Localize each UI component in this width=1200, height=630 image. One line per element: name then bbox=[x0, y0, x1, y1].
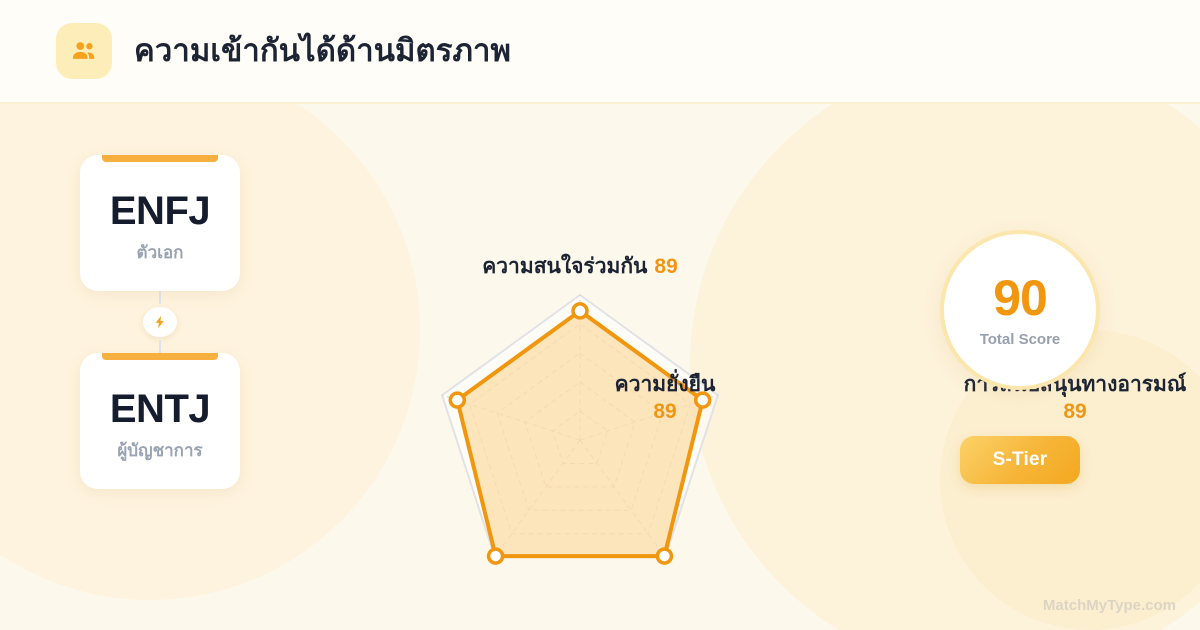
mbti-card-second[interactable]: ENTJ ผู้บัญชาการ bbox=[80, 353, 240, 489]
tier-badge: S-Tier bbox=[960, 436, 1080, 484]
radar-axis-value-0: 89 bbox=[654, 255, 677, 278]
page-header: ความเข้ากันได้ด้านมิตรภาพ bbox=[0, 0, 1200, 104]
connector-line-top bbox=[159, 291, 161, 304]
score-panel: 90 Total Score S-Tier bbox=[940, 230, 1100, 484]
mbti-type-first: ENFJ bbox=[110, 191, 210, 231]
infographic-root: ความเข้ากันได้ด้านมิตรภาพ ENFJ ตัวเอก EN… bbox=[0, 0, 1200, 630]
mbti-role-second: ผู้บัญชาการ bbox=[117, 442, 202, 459]
page-title: ความเข้ากันได้ด้านมิตรภาพ bbox=[134, 34, 511, 68]
radar-axis-name-4: ความยั่งยืน bbox=[615, 373, 716, 396]
radar-chart: ความสนใจร่วมกัน89 การสนับสนุนทางอารมณ์ 8… bbox=[290, 120, 950, 600]
total-score-label: Total Score bbox=[980, 332, 1061, 347]
mbti-role-first: ตัวเอก bbox=[137, 244, 184, 261]
mbti-type-second: ENTJ bbox=[110, 389, 210, 429]
radar-axis-name-0: ความสนใจร่วมกัน bbox=[482, 255, 647, 278]
mbti-card-first[interactable]: ENFJ ตัวเอก bbox=[80, 155, 240, 291]
lightning-bolt-icon bbox=[143, 307, 177, 338]
total-score-value: 90 bbox=[993, 273, 1047, 323]
total-score-circle: 90 Total Score bbox=[940, 230, 1100, 390]
mbti-pair: ENFJ ตัวเอก ENTJ ผู้บัญชาการ bbox=[80, 155, 240, 489]
radar-axis-value-4: 89 bbox=[615, 400, 716, 425]
watermark: MatchMyType.com bbox=[1043, 597, 1176, 614]
connector-line-bottom bbox=[159, 340, 161, 353]
radar-axis-label-0: ความสนใจร่วมกัน89 bbox=[482, 255, 678, 280]
pair-connector bbox=[143, 291, 177, 353]
people-icon bbox=[56, 23, 112, 79]
radar-axis-label-4: ความยั่งยืน 89 bbox=[615, 373, 716, 425]
